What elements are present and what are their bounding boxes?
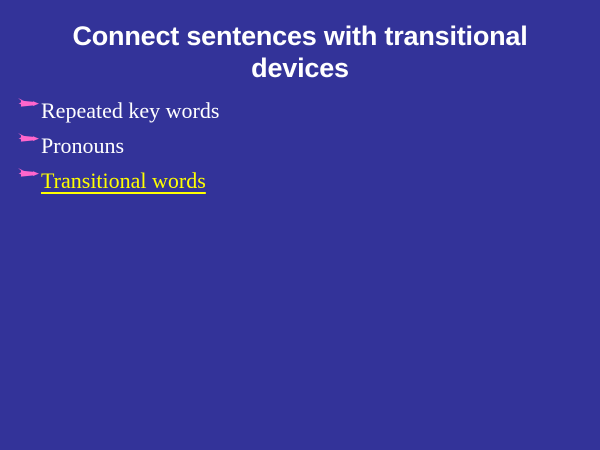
list-item: Repeated key words — [16, 96, 576, 131]
list-item-label: Repeated key words — [41, 98, 219, 124]
list-item: Pronouns — [16, 131, 576, 166]
transitional-words-link[interactable]: Transitional words — [41, 168, 206, 194]
arrow-bullet-icon — [16, 93, 41, 115]
list-item-label: Pronouns — [41, 133, 124, 159]
arrow-bullet-icon — [16, 163, 41, 185]
arrow-bullet-icon — [16, 128, 41, 150]
presentation-slide: Connect sentences with transitional devi… — [0, 0, 600, 450]
list-item: Transitional words — [16, 166, 576, 201]
slide-title: Connect sentences with transitional devi… — [40, 20, 560, 84]
bullet-list: Repeated key words Pronouns Transiti — [16, 96, 576, 201]
